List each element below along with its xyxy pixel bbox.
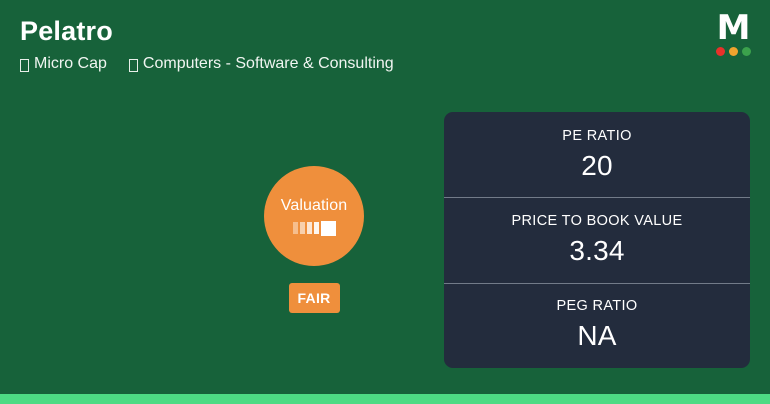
bottom-accent-bar: [0, 394, 770, 404]
company-name: Pelatro: [20, 14, 710, 48]
gauge-segment-2: [300, 222, 305, 234]
valuation-rating-badge: FAIR: [289, 283, 340, 313]
logo-dot-red: [716, 47, 725, 56]
meta-item-industry: Computers - Software & Consulting: [129, 53, 394, 75]
logo-dot-green: [742, 47, 751, 56]
valuation-circle[interactable]: Valuation: [264, 166, 364, 266]
metric-row-peg-ratio: PEG RATIO NA: [444, 283, 750, 368]
company-meta-row: Micro Cap Computers - Software & Consult…: [20, 53, 710, 75]
gauge-segment-1: [293, 222, 298, 234]
metric-value-peg-ratio: NA: [577, 319, 616, 353]
tag-icon: [20, 59, 29, 72]
metric-value-price-to-book-value: 3.34: [569, 234, 624, 268]
metrics-panel: PE RATIO 20 PRICE TO BOOK VALUE 3.34 PEG…: [444, 112, 750, 368]
metric-label-pe-ratio: PE RATIO: [562, 127, 631, 145]
metric-row-price-to-book-value: PRICE TO BOOK VALUE 3.34: [444, 197, 750, 282]
meta-item-market-cap: Micro Cap: [20, 53, 107, 75]
metric-row-pe-ratio: PE RATIO 20: [444, 112, 750, 197]
valuation-label: Valuation: [281, 197, 347, 215]
valuation-block: Valuation FAIR: [264, 166, 364, 313]
gauge-segment-4: [314, 222, 319, 234]
logo-letter-m: M: [717, 13, 750, 43]
card-header: Pelatro Micro Cap Computers - Software &…: [20, 14, 710, 75]
logo-dots: [716, 47, 751, 56]
industry-icon: [129, 59, 138, 72]
gauge-segment-3: [307, 222, 312, 234]
gauge-segment-5-active: [321, 221, 336, 236]
valuation-card: Pelatro Micro Cap Computers - Software &…: [0, 0, 770, 404]
metric-label-price-to-book-value: PRICE TO BOOK VALUE: [511, 212, 682, 230]
metric-value-pe-ratio: 20: [581, 149, 613, 183]
logo-dot-orange: [729, 47, 738, 56]
valuation-gauge-bars: [293, 221, 336, 235]
industry-label: Computers - Software & Consulting: [143, 53, 394, 75]
market-cap-label: Micro Cap: [34, 53, 107, 75]
moneycontrol-logo: M: [710, 13, 756, 57]
metric-label-peg-ratio: PEG RATIO: [556, 297, 637, 315]
